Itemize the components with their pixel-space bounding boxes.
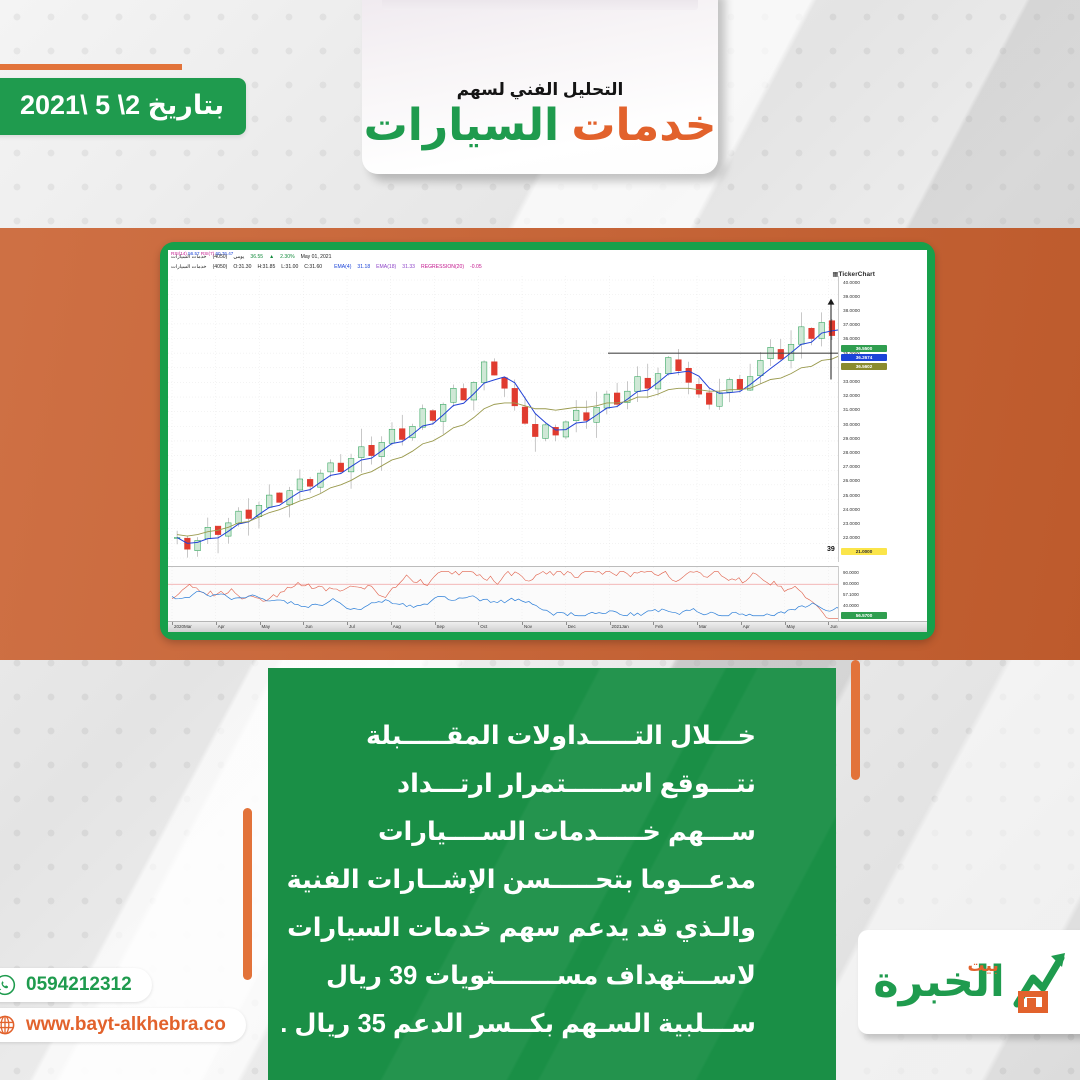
chart-change-arrow-icon: ▲ bbox=[269, 254, 274, 260]
whatsapp-icon bbox=[0, 974, 16, 996]
chart-ohlc-code: (4050) bbox=[213, 264, 228, 270]
chart-ohlc-symbol: خدمات السيارات bbox=[171, 264, 207, 270]
date-tick-mark bbox=[741, 622, 742, 625]
date-tick: Jul bbox=[349, 624, 355, 629]
chart-open: O:31.30 bbox=[233, 264, 251, 270]
date-tick-mark bbox=[785, 622, 786, 625]
title-word-sayarat: السيارات bbox=[364, 101, 560, 150]
price-tick: 32.0000 bbox=[843, 393, 860, 398]
date-tick-mark bbox=[653, 622, 654, 625]
date-tick: Apr bbox=[218, 624, 225, 629]
chart-info-line-2: خدمات السيارات(4050)O:31.30H:31.85L:31.0… bbox=[171, 263, 924, 271]
price-tick: 24.0000 bbox=[843, 507, 860, 512]
price-tick: 31.0000 bbox=[843, 407, 860, 412]
date-tick: Apr bbox=[743, 624, 750, 629]
date-tick-mark bbox=[610, 622, 611, 625]
date-tick: Aug bbox=[393, 624, 401, 629]
date-tick-mark bbox=[435, 622, 436, 625]
rsi-header: RSI(14) 56.57 RSI(7) 60.76.47 bbox=[171, 251, 233, 256]
price-tick: 38.0000 bbox=[843, 308, 860, 313]
post-canvas: بتاريخ 2\ 5 \2021 التحليل الفني لسهم خدم… bbox=[0, 0, 1080, 1080]
date-tick: May bbox=[787, 624, 796, 629]
chart-regression-label: REGRESSION(20) bbox=[421, 264, 464, 270]
date-badge: بتاريخ 2\ 5 \2021 bbox=[0, 78, 246, 135]
chart-low: L:31.00 bbox=[281, 264, 298, 270]
price-tick: 29.0000 bbox=[843, 436, 860, 441]
chart-ema-fast-value: 31.18 bbox=[357, 264, 370, 270]
price-pill: 36.5602 bbox=[841, 363, 887, 370]
date-tick-mark bbox=[260, 622, 261, 625]
date-tick: 2020Mar bbox=[174, 624, 192, 629]
date-tick: Feb bbox=[655, 624, 663, 629]
rsi-tick: 57.1000 bbox=[843, 592, 859, 597]
chart-screenshot[interactable]: خدمات السيارات(4050)يومي36.55▲2.30%May 0… bbox=[168, 250, 927, 632]
price-tick: 27.0000 bbox=[843, 464, 860, 469]
rsi14-value: 56.57 bbox=[188, 251, 200, 256]
analysis-line: لاســـتهداف مســـــــتويات 39 ريال bbox=[308, 952, 756, 1000]
date-tick-mark bbox=[347, 622, 348, 625]
brand-logo: بيت الخبرة bbox=[873, 944, 1079, 1021]
rsi7-label: RSI(7) bbox=[201, 251, 214, 256]
left-orange-accent bbox=[243, 808, 252, 980]
chart-last-price: 36.55 bbox=[250, 254, 263, 260]
date-axis[interactable]: 2020MarAprMayJunJulAugSepOctNovDec2021Ja… bbox=[168, 621, 927, 632]
analysis-panel: خـــلال التـــــداولات المقـــــبلةنتـــ… bbox=[268, 668, 836, 1080]
date-tick-mark bbox=[391, 622, 392, 625]
phone-contact-pill[interactable]: 0594212312 bbox=[0, 968, 152, 1002]
price-pill: 36.5500 bbox=[841, 345, 887, 352]
date-tick: Jun bbox=[305, 624, 312, 629]
brand-word-bayt: بيت bbox=[967, 957, 998, 974]
date-tick: Dec bbox=[568, 624, 576, 629]
chart-close: C:31.60 bbox=[304, 264, 322, 270]
rsi-tick: 80.0000 bbox=[843, 581, 859, 586]
price-plot bbox=[168, 276, 878, 562]
price-tick: 25.0000 bbox=[843, 493, 860, 498]
rsi7-value: 60.76.47 bbox=[215, 251, 233, 256]
price-tick: 28.0000 bbox=[843, 450, 860, 455]
title-card: التحليل الفني لسهم خدمات السيارات bbox=[362, 0, 718, 174]
price-tick: 40.0000 bbox=[843, 280, 860, 285]
brand-logo-card[interactable]: بيت الخبرة bbox=[858, 930, 1080, 1034]
website-contact-pill[interactable]: www.bayt-alkhebra.co bbox=[0, 1008, 246, 1042]
analysis-line: ســـهم خـــــدمات الســــيارات bbox=[308, 808, 756, 856]
rsi-tick: 90.0000 bbox=[843, 570, 859, 575]
price-tick: 33.0000 bbox=[843, 379, 860, 384]
title-word-khadamat: خدمات bbox=[571, 101, 716, 150]
chart-ema-slow-label: EMA(18) bbox=[376, 264, 396, 270]
price-tick: 39.0000 bbox=[843, 294, 860, 299]
date-tick: Oct bbox=[480, 624, 487, 629]
date-tick-mark bbox=[697, 622, 698, 625]
chart-timeframe: يومي bbox=[233, 254, 244, 260]
analysis-line: مدعـــوما بتحـــــسن الإشــارات الفنية bbox=[308, 856, 756, 904]
date-tick-mark bbox=[566, 622, 567, 625]
date-tick-mark bbox=[522, 622, 523, 625]
chart-info-line-1: خدمات السيارات(4050)يومي36.55▲2.30%May 0… bbox=[171, 253, 924, 261]
analysis-text: خـــلال التـــــداولات المقـــــبلةنتـــ… bbox=[268, 668, 836, 1048]
chart-high: H:31.85 bbox=[257, 264, 275, 270]
rsi-svg bbox=[168, 567, 878, 623]
analysis-line: نتـــوقع اســــــتمرار ارتـــداد bbox=[308, 760, 756, 808]
date-tick: Mar bbox=[699, 624, 707, 629]
growth-arrow-icon bbox=[1011, 944, 1079, 1021]
date-tick-mark bbox=[478, 622, 479, 625]
date-tick-mark bbox=[303, 622, 304, 625]
analysis-line: ســـلبية السـهم بكــسر الدعم 35 ريال . bbox=[308, 1000, 756, 1048]
price-tick: 23.0000 bbox=[843, 521, 860, 526]
candlestick-svg bbox=[168, 276, 878, 562]
price-pill: 36.2674 bbox=[841, 354, 887, 361]
website-url: www.bayt-alkhebra.co bbox=[26, 1014, 226, 1036]
rsi-tick: 40.0000 bbox=[843, 603, 859, 608]
phone-number: 0594212312 bbox=[26, 974, 132, 996]
date-tick: Nov bbox=[524, 624, 532, 629]
date-tick: May bbox=[262, 624, 271, 629]
date-tick-mark bbox=[828, 622, 829, 625]
rsi-axis[interactable]: 90.000080.000057.100040.000020.000056.57… bbox=[838, 566, 891, 622]
price-pill: 21.0000 bbox=[841, 548, 887, 555]
date-tick: 2021Jan bbox=[612, 624, 629, 629]
date-tick-mark bbox=[172, 622, 173, 625]
rsi-plot bbox=[168, 566, 878, 623]
date-tick: Sep bbox=[437, 624, 445, 629]
rsi14-label: RSI(14) bbox=[171, 251, 187, 256]
globe-icon bbox=[0, 1014, 16, 1036]
rsi-pill: 56.5700 bbox=[841, 612, 887, 619]
chart-regression-value: -0.05 bbox=[470, 264, 482, 270]
analysis-line: والـذي قد يدعم سهم خدمات السيارات bbox=[308, 904, 756, 952]
chart-ema-slow-value: 31.33 bbox=[402, 264, 415, 270]
date-tick-mark bbox=[216, 622, 217, 625]
target-label-39: 39 bbox=[827, 546, 835, 553]
price-tick: 30.0000 bbox=[843, 422, 860, 427]
date-tick: Jun bbox=[830, 624, 837, 629]
analysis-line: خـــلال التـــــداولات المقـــــبلة bbox=[308, 712, 756, 760]
brand-wordmark: بيت الخبرة bbox=[873, 961, 1005, 1004]
chart-quote-date: May 01, 2021 bbox=[301, 254, 332, 260]
price-tick: 36.0000 bbox=[843, 336, 860, 341]
price-axis[interactable]: 40.000039.000038.000037.000036.000035.00… bbox=[838, 276, 891, 562]
title-card-notch bbox=[382, 0, 698, 10]
right-orange-accent bbox=[851, 660, 860, 780]
price-tick: 26.0000 bbox=[843, 478, 860, 483]
chart-ema-fast-label: EMA(4) bbox=[334, 264, 351, 270]
price-tick: 22.0000 bbox=[843, 535, 860, 540]
price-tick: 37.0000 bbox=[843, 322, 860, 327]
page-title: خدمات السيارات bbox=[364, 102, 717, 150]
chart-change-pct: 2.30% bbox=[280, 254, 294, 260]
post-subtitle: التحليل الفني لسهم bbox=[457, 80, 624, 100]
top-orange-rule bbox=[0, 64, 182, 70]
